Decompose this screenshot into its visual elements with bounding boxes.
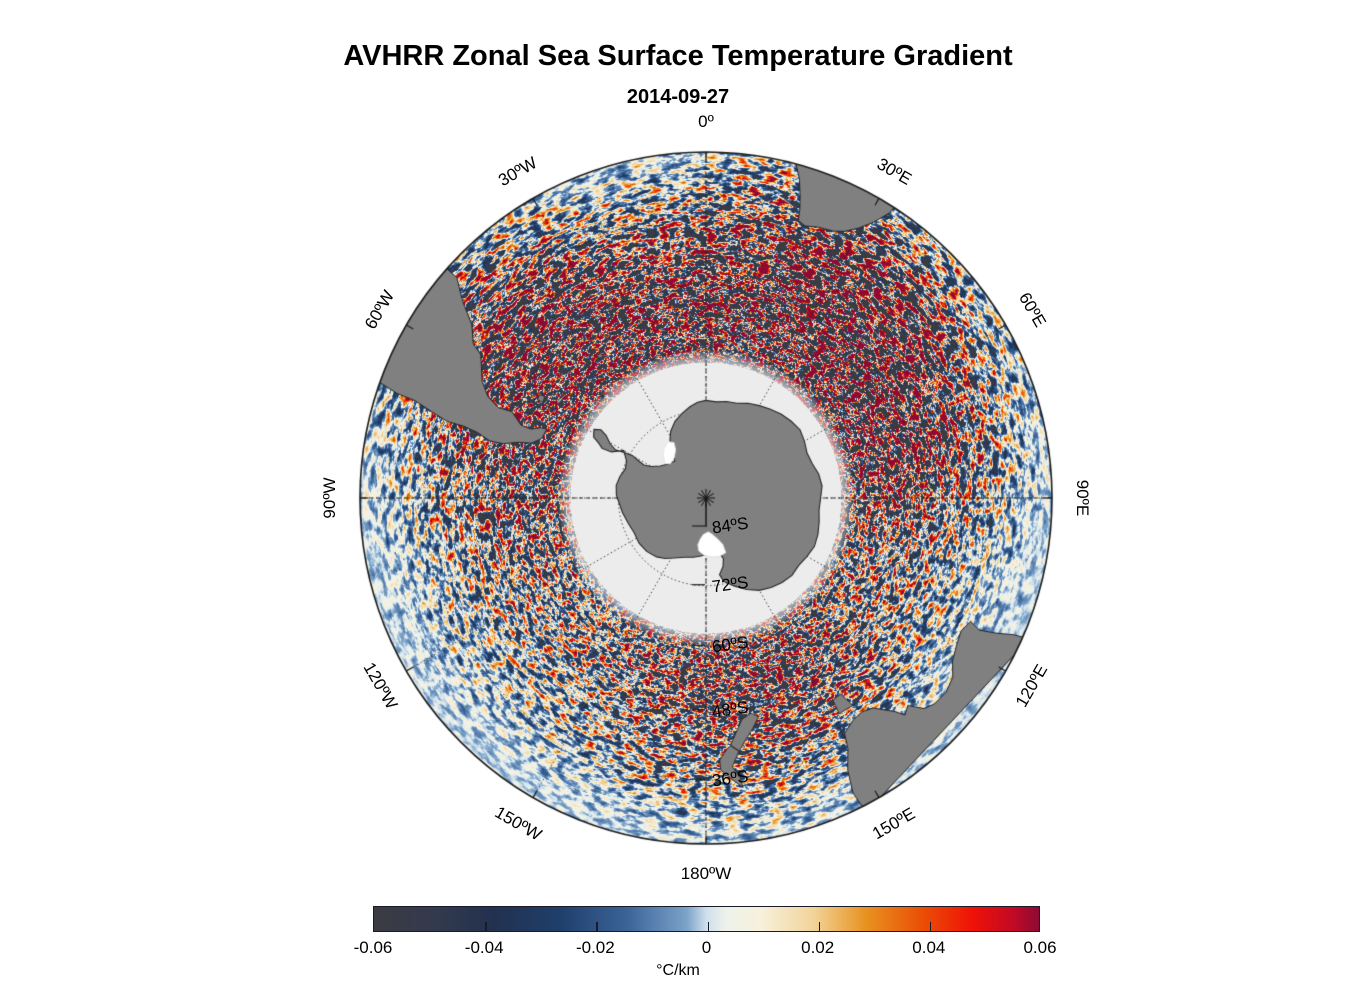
longitude-label: 180ºW bbox=[681, 864, 732, 884]
colorbar-tick-label: 0.02 bbox=[801, 938, 834, 958]
sst-gradient-heatmap-canvas bbox=[0, 0, 1356, 1000]
longitude-label: 90ºW bbox=[320, 477, 340, 518]
colorbar-tick bbox=[930, 922, 932, 931]
colorbar-tick-label: -0.04 bbox=[465, 938, 504, 958]
colorbar-unit-label: °C/km bbox=[0, 962, 1356, 980]
colorbar-tick bbox=[485, 922, 487, 931]
colorbar-tick-label: -0.02 bbox=[576, 938, 615, 958]
colorbar-tick bbox=[596, 922, 598, 931]
figure-root: AVHRR Zonal Sea Surface Temperature Grad… bbox=[0, 0, 1356, 1000]
colorbar-tick bbox=[819, 922, 821, 931]
longitude-label: 90ºE bbox=[1072, 480, 1092, 516]
colorbar-tick-label: 0.06 bbox=[1023, 938, 1056, 958]
colorbar-tick bbox=[708, 922, 710, 931]
polar-map: 0º30ºE60ºE90ºE120ºE150ºE180ºW150ºW120ºW9… bbox=[0, 0, 1356, 1000]
longitude-label: 0º bbox=[698, 112, 714, 132]
colorbar-tick-label: -0.06 bbox=[354, 938, 393, 958]
colorbar-tick-label: 0 bbox=[702, 938, 711, 958]
colorbar bbox=[373, 906, 1040, 932]
colorbar-gradient bbox=[374, 907, 1039, 931]
colorbar-tick-label: 0.04 bbox=[912, 938, 945, 958]
